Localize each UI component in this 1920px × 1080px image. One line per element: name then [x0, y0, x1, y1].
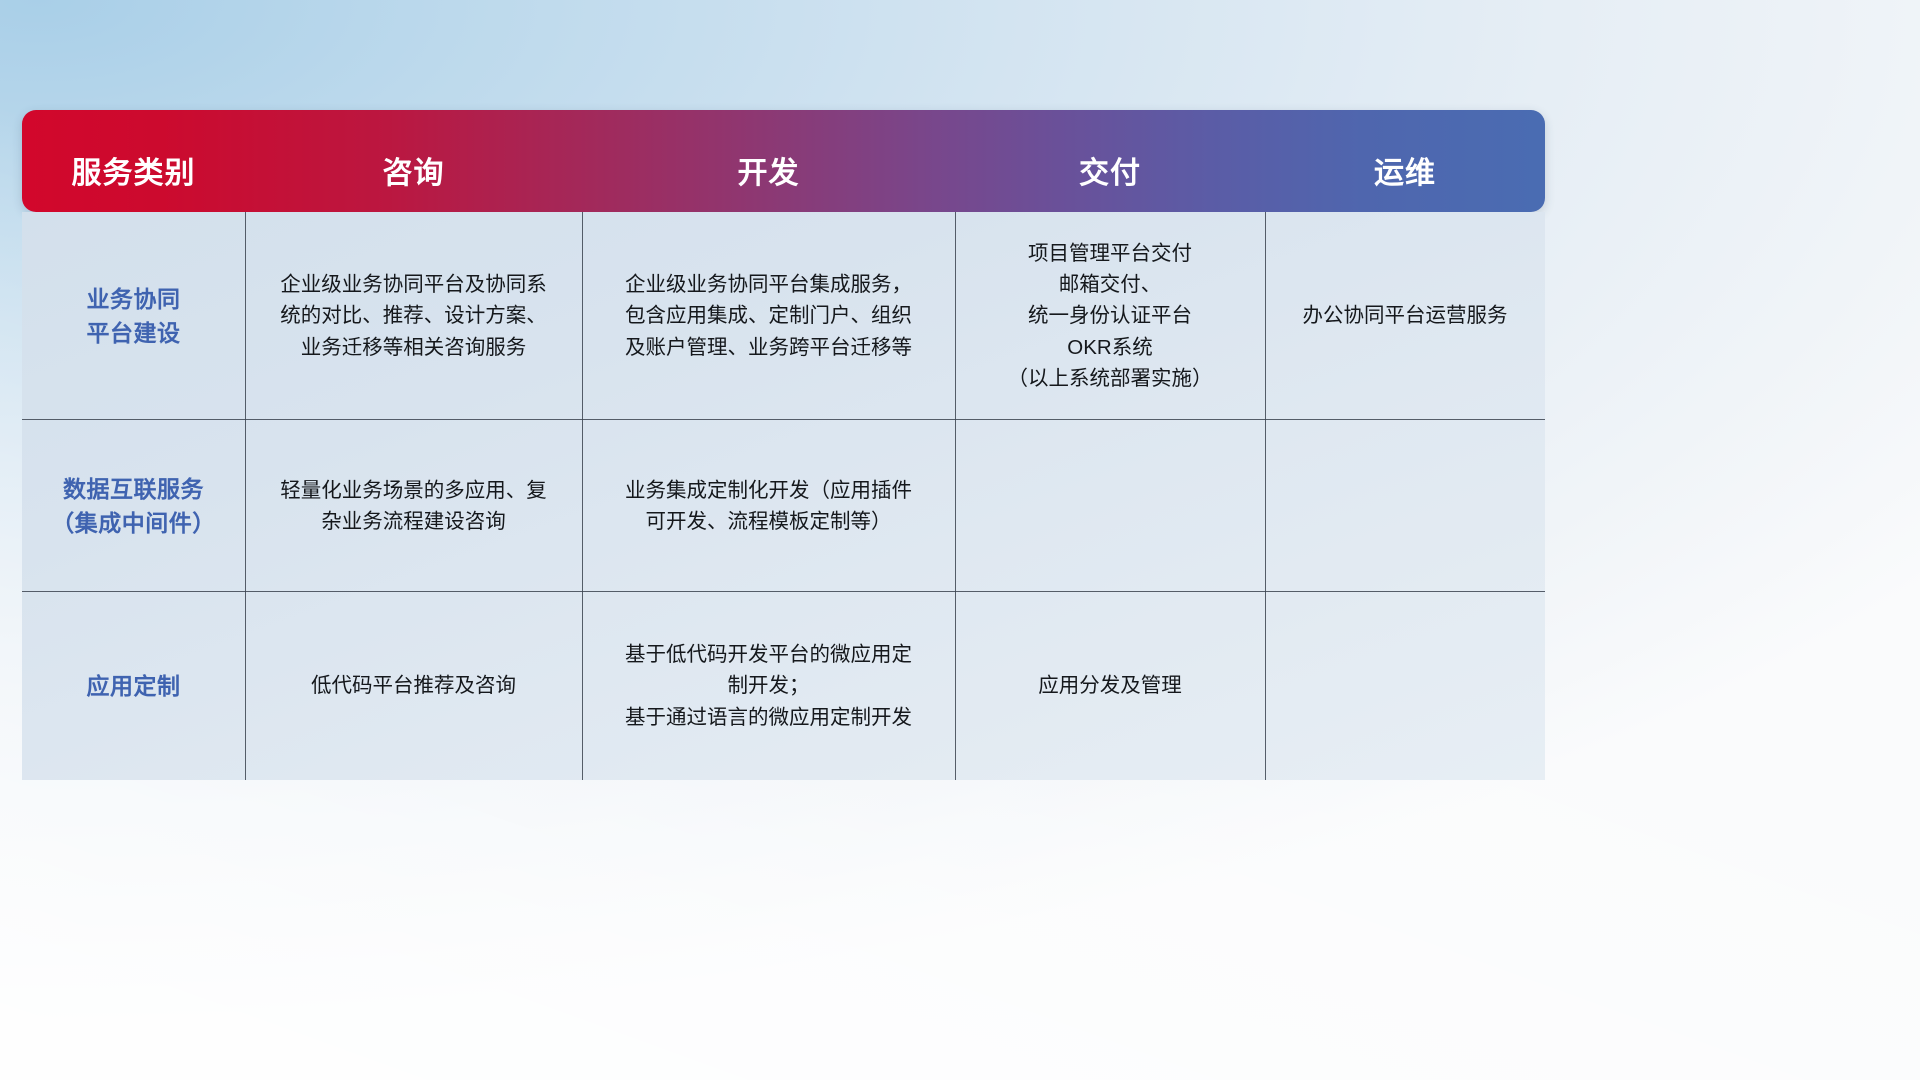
column-header-delivery: 交付	[955, 148, 1265, 212]
column-header-category: 服务类别	[22, 148, 245, 212]
cell-development: 业务集成定制化开发（应用插件 可开发、流程模板定制等）	[582, 420, 955, 592]
cell-development: 企业级业务协同平台集成服务， 包含应用集成、定制门户、组织 及账户管理、业务跨平…	[582, 212, 955, 420]
row-category-label: 应用定制	[22, 592, 245, 780]
table-body: 业务协同 平台建设 企业级业务协同平台及协同系 统的对比、推荐、设计方案、 业务…	[22, 212, 1545, 780]
table-row: 业务协同 平台建设 企业级业务协同平台及协同系 统的对比、推荐、设计方案、 业务…	[22, 212, 1545, 420]
cell-operations: 办公协同平台运营服务	[1265, 212, 1545, 420]
cell-delivery: 应用分发及管理	[955, 592, 1265, 780]
service-category-table: 服务类别 咨询 开发 交付 运维 业务协同 平台建设 企业级业务协同平台及协同系…	[22, 110, 1545, 780]
column-header-consulting: 咨询	[245, 148, 582, 212]
cell-development: 基于低代码开发平台的微应用定 制开发； 基于通过语言的微应用定制开发	[582, 592, 955, 780]
cell-consulting: 轻量化业务场景的多应用、复 杂业务流程建设咨询	[245, 420, 582, 592]
cell-consulting: 低代码平台推荐及咨询	[245, 592, 582, 780]
cell-consulting: 企业级业务协同平台及协同系 统的对比、推荐、设计方案、 业务迁移等相关咨询服务	[245, 212, 582, 420]
table-row: 数据互联服务 （集成中间件） 轻量化业务场景的多应用、复 杂业务流程建设咨询 业…	[22, 420, 1545, 592]
column-header-operations: 运维	[1265, 148, 1545, 212]
cell-operations	[1265, 592, 1545, 780]
row-category-label: 数据互联服务 （集成中间件）	[22, 420, 245, 592]
cell-operations	[1265, 420, 1545, 592]
cell-delivery	[955, 420, 1265, 592]
row-category-label: 业务协同 平台建设	[22, 212, 245, 420]
table-header-row: 服务类别 咨询 开发 交付 运维	[22, 110, 1545, 212]
column-header-development: 开发	[582, 148, 955, 212]
table-row: 应用定制 低代码平台推荐及咨询 基于低代码开发平台的微应用定 制开发； 基于通过…	[22, 592, 1545, 780]
cell-delivery: 项目管理平台交付 邮箱交付、 统一身份认证平台 OKR系统 （以上系统部署实施）	[955, 212, 1265, 420]
